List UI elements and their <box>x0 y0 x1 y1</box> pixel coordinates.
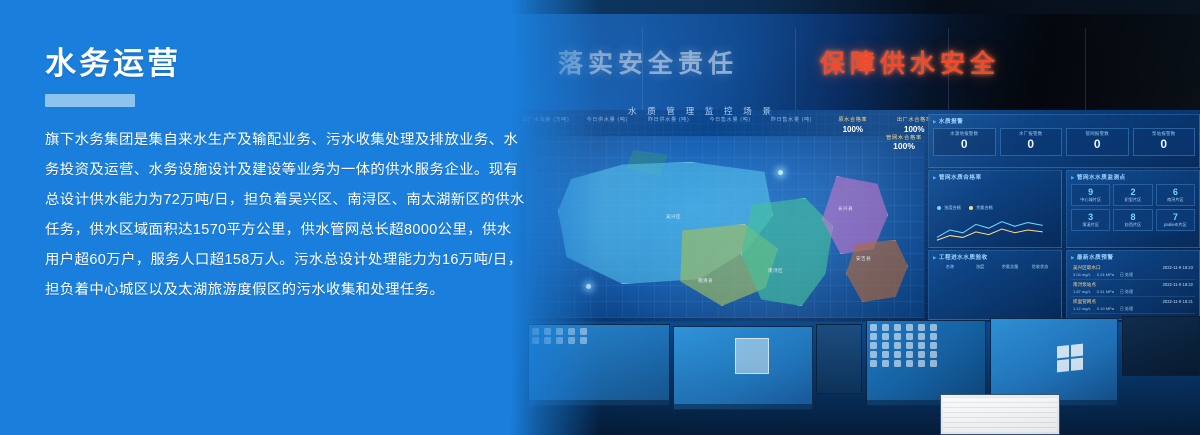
slogan-right: 保障供水安全 <box>820 44 1000 80</box>
control-room-photo: 落实安全责任 保障供水安全 水 质 管 理 监 控 场 景 出厂水浊度 (万吨)… <box>510 0 1200 435</box>
chart-legend: 浊度合格 余氯合格 <box>937 205 993 211</box>
alarm-card[interactable]: 管网报警数 0 <box>1066 128 1129 156</box>
alert-row[interactable]: 南浔泵站点 2022-11-9 18:22 1.87 mg/L 0.31 MPa… <box>1071 280 1195 297</box>
monitoring-point-cell[interactable]: 8 妙西片区 <box>1113 209 1152 231</box>
desktop-icon-grid <box>870 324 940 367</box>
legend-entry: 浊度合格 <box>937 205 961 211</box>
description-line: 务投资及运营、水务设施设计及建设等业务为一体的供水服务企业。现有 <box>45 155 605 185</box>
kpi-item: 昨日供水量 (吨) <box>643 116 694 138</box>
page-title: 水务运营 <box>45 47 605 82</box>
alert-metric: 1.12 mg/L <box>1073 306 1091 312</box>
alert-metric: 1.87 mg/L <box>1073 289 1091 295</box>
workstation-monitor-5[interactable] <box>990 318 1118 406</box>
quality-rate-line-chart <box>935 217 1046 243</box>
alert-metric: 0.24 MPa <box>1097 272 1114 278</box>
panel-acceptance-table[interactable]: 工程进水水质验收 名称 浊度 余氯含量 验收状态 <box>928 250 1062 320</box>
alarm-card-row: 水源地报警数 0 水厂报警数 0 管网报警数 0 泵站报警数 <box>933 128 1195 156</box>
alarm-card[interactable]: 水厂报警数 0 <box>1000 128 1063 156</box>
dashboard-wall: 水 质 管 理 监 控 场 景 出厂水浊度 (万吨) 今日供水量 (吨) 昨日供… <box>510 110 1200 322</box>
taskbar[interactable] <box>529 400 669 405</box>
monitoring-point-grid: 9 中心城片区 2 织里片区 6 南浔片区 3 <box>1071 184 1195 231</box>
alert-list: 吴兴区取水口 2022-11-9 18:23 3.04 mg/L 0.24 MP… <box>1071 263 1195 314</box>
workstation-monitor-2[interactable] <box>673 326 813 410</box>
map-label-region: 安吉县 <box>856 256 871 262</box>
windows-logo-icon <box>1057 343 1083 372</box>
ceiling-strip <box>510 0 1200 14</box>
text-column: 水务运营 旗下水务集团是集自来水生产及输配业务、污水收集处理及排放业务、水 务投… <box>45 47 605 305</box>
workstation-monitor-1[interactable] <box>528 324 670 406</box>
spreadsheet-monitor[interactable] <box>940 394 1060 435</box>
description-line: 用户超60万户，服务人口超158万人。污水总设计处理能力为16万吨/日， <box>45 245 605 275</box>
map-label-region: 德清县 <box>698 278 713 284</box>
alert-metric: 3.04 mg/L <box>1073 272 1091 278</box>
panel-latest-alerts[interactable]: 最新水质预警 吴兴区取水口 2022-11-9 18:23 3.04 mg/L … <box>1066 250 1200 320</box>
description-line: 担负着中心城区以及太湖旅游度假区的污水收集和处理任务。 <box>45 275 605 305</box>
monitoring-point-cell[interactable]: 6 南浔片区 <box>1156 184 1195 206</box>
dashboard-panel-column: 水质报警 水源地报警数 0 水厂报警数 0 管网报警数 0 <box>928 110 1200 322</box>
monitoring-point-cell[interactable]: 7 районE片区 <box>1156 209 1195 231</box>
panel-pipe-quality-rate[interactable]: 管网水质合格率 浊度合格 余氯合格 <box>928 170 1062 248</box>
monitoring-point-cell[interactable]: 9 中心城片区 <box>1071 184 1110 206</box>
alarm-card[interactable]: 泵站报警数 0 <box>1133 128 1196 156</box>
map-marker[interactable] <box>778 170 783 175</box>
map-label-region: 吴兴区 <box>666 214 681 220</box>
description-paragraph: 旗下水务集团是集自来水生产及输配业务、污水收集处理及排放业务、水 务投资及运营、… <box>45 125 605 305</box>
document-window[interactable] <box>735 338 769 374</box>
video-wall: 落实安全责任 保障供水安全 <box>510 14 1200 110</box>
alarm-card[interactable]: 水源地报警数 0 <box>933 128 996 156</box>
map-corner-stat: 管网水合格率 100% <box>886 134 922 151</box>
legend-swatch-icon <box>937 206 941 210</box>
alert-row[interactable]: 吴兴区取水口 2022-11-9 18:23 3.04 mg/L 0.24 MP… <box>1071 263 1195 280</box>
workstation-monitor-6[interactable] <box>1122 316 1200 376</box>
kpi-item: 昨日售水量 (吨) <box>766 116 817 138</box>
title-accent-bar <box>45 94 135 107</box>
alert-status: 已 处理 <box>1120 272 1133 278</box>
panel-water-quality-alarms[interactable]: 水质报警 水源地报警数 0 水厂报警数 0 管网报警数 0 <box>928 114 1200 168</box>
legend-entry: 余氯合格 <box>969 205 993 211</box>
desktop-icon-grid <box>532 328 590 344</box>
kpi-item-raw-water-rate: 原水合格率 100% <box>827 116 878 138</box>
alert-status: 已 处理 <box>1120 306 1133 312</box>
panel-monitoring-points[interactable]: 管网水水质监测点 9 中心城片区 2 织里片区 6 南浔片区 <box>1066 170 1200 248</box>
monitoring-point-cell[interactable]: 2 织里片区 <box>1113 184 1152 206</box>
workstation-monitor-3[interactable] <box>816 324 862 394</box>
kpi-item: 今日售水量 (吨) <box>704 116 755 138</box>
acceptance-table-header: 名称 浊度 余氯含量 验收状态 <box>935 264 1055 270</box>
alert-row[interactable]: 织里管网点 2022-11-9 18:21 1.12 mg/L 0.19 MPa… <box>1071 297 1195 314</box>
monitoring-point-cell[interactable]: 3 埭溪片区 <box>1071 209 1110 231</box>
alert-metric: 0.31 MPa <box>1097 289 1114 295</box>
alert-status: 已 处理 <box>1120 289 1133 295</box>
map-label-region: 长兴县 <box>838 206 853 212</box>
alert-metric: 0.19 MPa <box>1097 306 1114 312</box>
taskbar[interactable] <box>674 404 812 409</box>
legend-swatch-icon <box>969 206 973 210</box>
description-line: 总设计供水能力为72万吨/日，担负着吴兴区、南浔区、南太湖新区的供水 <box>45 185 605 215</box>
description-line: 任务，供水区域面积达1570平方公里，供水管网总长超8000公里，供水 <box>45 215 605 245</box>
description-line: 旗下水务集团是集自来水生产及输配业务、污水收集处理及排放业务、水 <box>45 125 605 155</box>
water-operations-section: 落实安全责任 保障供水安全 水 质 管 理 监 控 场 景 出厂水浊度 (万吨)… <box>0 0 1200 435</box>
spreadsheet-rows <box>943 397 1057 432</box>
map-label-region: 南浔区 <box>768 268 783 274</box>
